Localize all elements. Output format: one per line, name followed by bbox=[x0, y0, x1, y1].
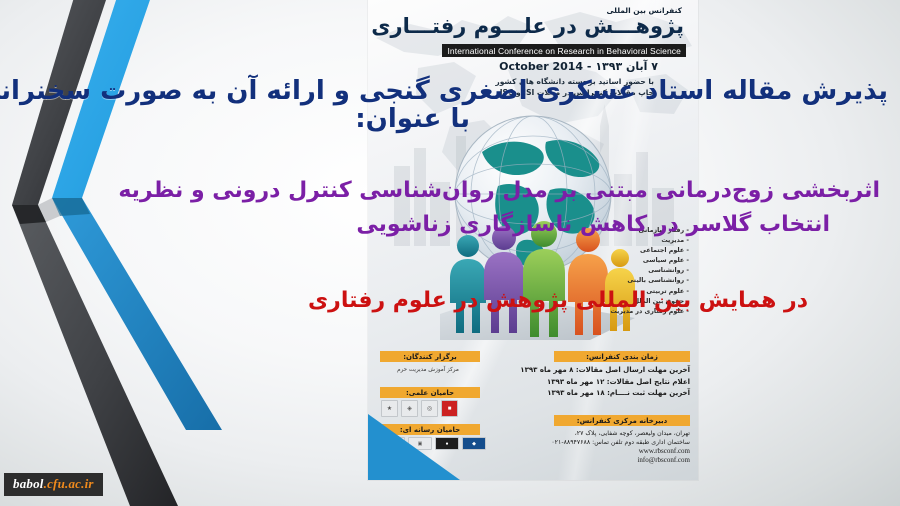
paper-title-line-1: اثربخشی زوج‌درمانی مبتنی بر مدل روان‌شنا… bbox=[118, 178, 880, 203]
paper-title-line-2: انتخاب گلاسر در کاهش ناسازگاری زناشویی bbox=[356, 212, 830, 237]
slide-canvas: کنفرانس بین المللی پژوهـــش در علـــوم ر… bbox=[0, 0, 900, 506]
schedule-item: آخرین مهلت ثبت نــــام: ۱۸ مهر ماه ۱۳۹۳ bbox=[520, 388, 690, 400]
conference-reference-line: در همایش بین المللی پژوهش در علوم رفتاری bbox=[308, 288, 808, 313]
topic-item: - روانشناسی bbox=[610, 266, 690, 276]
topic-item: - روانشناسی بالینی bbox=[610, 276, 690, 286]
topic-item: - علوم اجتماعی bbox=[610, 246, 690, 256]
secretariat-email[interactable]: info@rbsconf.com bbox=[551, 456, 690, 465]
organizers-label: برگزار کنندگان: bbox=[380, 351, 480, 362]
poster-date: ۷ آبان ۱۳۹۳ - 2014 October bbox=[499, 60, 658, 73]
schedule-item: اعلام نتایج اصل مقالات: ۱۲ مهر ماه ۱۳۹۳ bbox=[520, 377, 690, 389]
site-watermark: babol.cfu.ac.ir bbox=[4, 473, 103, 496]
poster-english-title: International Conference on Research in … bbox=[442, 44, 686, 57]
sponsors-label: حامیان علمی: bbox=[380, 387, 480, 398]
watermark-primary: babol bbox=[13, 476, 44, 491]
organizer-logo: مرکز آموزش مدیریت حرم bbox=[382, 364, 474, 387]
secretariat-website[interactable]: www.rbsconf.com bbox=[551, 447, 690, 456]
watermark-suffix: .cfu.ac.ir bbox=[44, 476, 94, 491]
topic-item: - علوم سیاسی bbox=[610, 256, 690, 266]
secretariat-address-2: ساختمان اداری طبقه دوم تلفن تماس: ۸۸۹۴۷۶… bbox=[551, 438, 690, 447]
poster-corner-triangle bbox=[368, 414, 460, 480]
schedule-list: آخرین مهلت ارسال اصل مقالات: ۸ مهر ماه ۱… bbox=[520, 365, 690, 400]
topic-item: - مدیریت bbox=[610, 236, 690, 246]
secretariat-address-1: تهران، میدان ولیعصر، کوچه شفایی، پلاک ۲۷… bbox=[551, 429, 690, 438]
conference-poster: کنفرانس بین المللی پژوهـــش در علـــوم ر… bbox=[368, 0, 698, 480]
poster-title: پژوهـــش در علـــوم رفتـــاری bbox=[371, 14, 684, 38]
announcement-line-1: پذیرش مقاله استاد عسکری اصغری گنجی و ارا… bbox=[0, 76, 888, 106]
media-logo-icon: ◆ bbox=[462, 437, 486, 450]
schedule-item: آخرین مهلت ارسال اصل مقالات: ۸ مهر ماه ۱… bbox=[520, 365, 690, 377]
secretariat-block: تهران، میدان ولیعصر، کوچه شفایی، پلاک ۲۷… bbox=[551, 429, 690, 465]
secretariat-label: دبیرخانه مرکزی کنفرانس: bbox=[554, 415, 690, 426]
schedule-label: زمان بندی کنفرانس: bbox=[554, 351, 690, 362]
announcement-line-2: با عنوان: bbox=[355, 104, 470, 134]
